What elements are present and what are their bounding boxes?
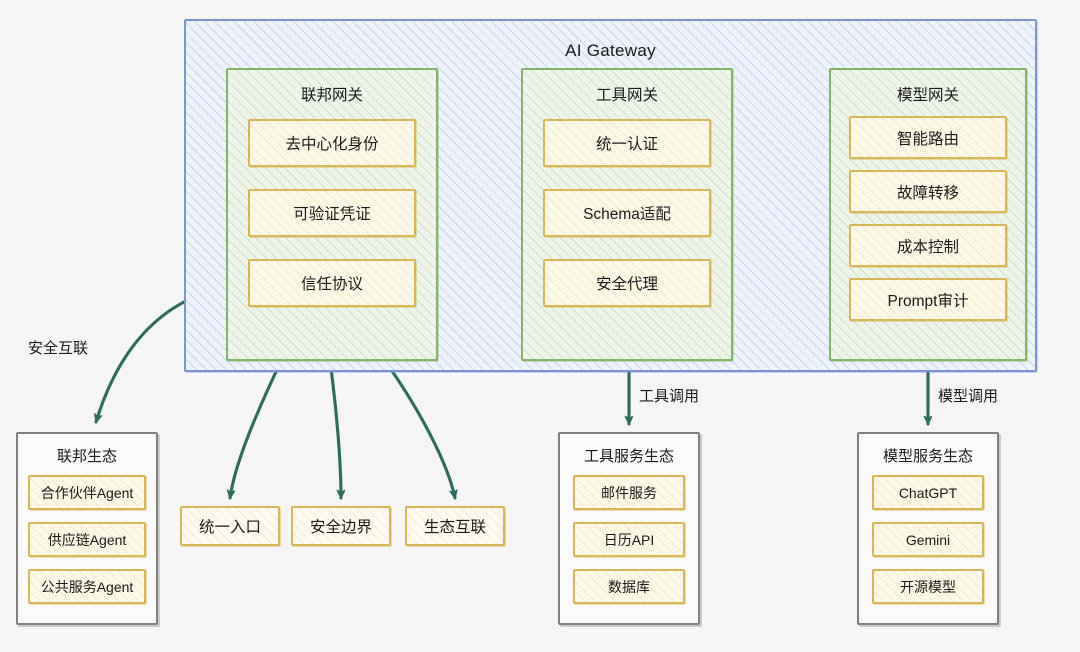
- model-item-3[interactable]: Prompt审计: [849, 278, 1007, 321]
- tool-gateway-box[interactable]: 工具网关 统一认证 Schema适配 安全代理: [521, 68, 733, 361]
- federation-gateway-box[interactable]: 联邦网关 去中心化身份 可验证凭证 信任协议: [226, 68, 438, 361]
- edge-label-secure-interconnect: 安全互联: [28, 337, 88, 358]
- arrow-to-unified-entry: [230, 361, 281, 498]
- ai-gateway-title: AI Gateway: [565, 41, 656, 61]
- federation-ecosystem-item-0[interactable]: 合作伙伴Agent: [28, 475, 146, 510]
- federation-ecosystem-item-1[interactable]: 供应链Agent: [28, 522, 146, 557]
- model-service-ecosystem-title: 模型服务生态: [883, 445, 973, 466]
- tool-service-item-0[interactable]: 邮件服务: [573, 475, 685, 510]
- model-item-0[interactable]: 智能路由: [849, 116, 1007, 159]
- federation-item-2[interactable]: 信任协议: [248, 259, 416, 307]
- arrow-to-security-boundary: [330, 361, 341, 498]
- model-service-item-1[interactable]: Gemini: [872, 522, 984, 557]
- edge-label-model-invoke: 模型调用: [938, 385, 998, 406]
- tool-item-0[interactable]: 统一认证: [543, 119, 711, 167]
- tool-service-ecosystem-title: 工具服务生态: [584, 445, 674, 466]
- model-gateway-box[interactable]: 模型网关 智能路由 故障转移 成本控制 Prompt审计: [829, 68, 1027, 361]
- federation-ecosystem-box[interactable]: 联邦生态 合作伙伴Agent 供应链Agent 公共服务Agent: [16, 432, 158, 625]
- model-gateway-title: 模型网关: [897, 83, 959, 105]
- model-service-item-0[interactable]: ChatGPT: [872, 475, 984, 510]
- federation-gateway-title: 联邦网关: [301, 83, 363, 105]
- federation-item-0[interactable]: 去中心化身份: [248, 119, 416, 167]
- federation-item-1[interactable]: 可验证凭证: [248, 189, 416, 237]
- model-item-1[interactable]: 故障转移: [849, 170, 1007, 213]
- federation-ecosystem-item-2[interactable]: 公共服务Agent: [28, 569, 146, 604]
- outcome-security-boundary[interactable]: 安全边界: [291, 506, 391, 546]
- model-service-item-2[interactable]: 开源模型: [872, 569, 984, 604]
- outcome-unified-entry[interactable]: 统一入口: [180, 506, 280, 546]
- federation-ecosystem-title: 联邦生态: [57, 445, 117, 466]
- tool-service-item-2[interactable]: 数据库: [573, 569, 685, 604]
- tool-item-1[interactable]: Schema适配: [543, 189, 711, 237]
- tool-item-2[interactable]: 安全代理: [543, 259, 711, 307]
- model-item-2[interactable]: 成本控制: [849, 224, 1007, 267]
- tool-service-ecosystem-box[interactable]: 工具服务生态 邮件服务 日历API 数据库: [558, 432, 700, 625]
- edge-label-tool-invoke: 工具调用: [639, 385, 699, 406]
- model-service-ecosystem-box[interactable]: 模型服务生态 ChatGPT Gemini 开源模型: [857, 432, 999, 625]
- tool-service-item-1[interactable]: 日历API: [573, 522, 685, 557]
- arrow-to-ecosystem-interconnect: [385, 361, 455, 498]
- outcome-ecosystem-interconnect[interactable]: 生态互联: [405, 506, 505, 546]
- tool-gateway-title: 工具网关: [596, 83, 658, 105]
